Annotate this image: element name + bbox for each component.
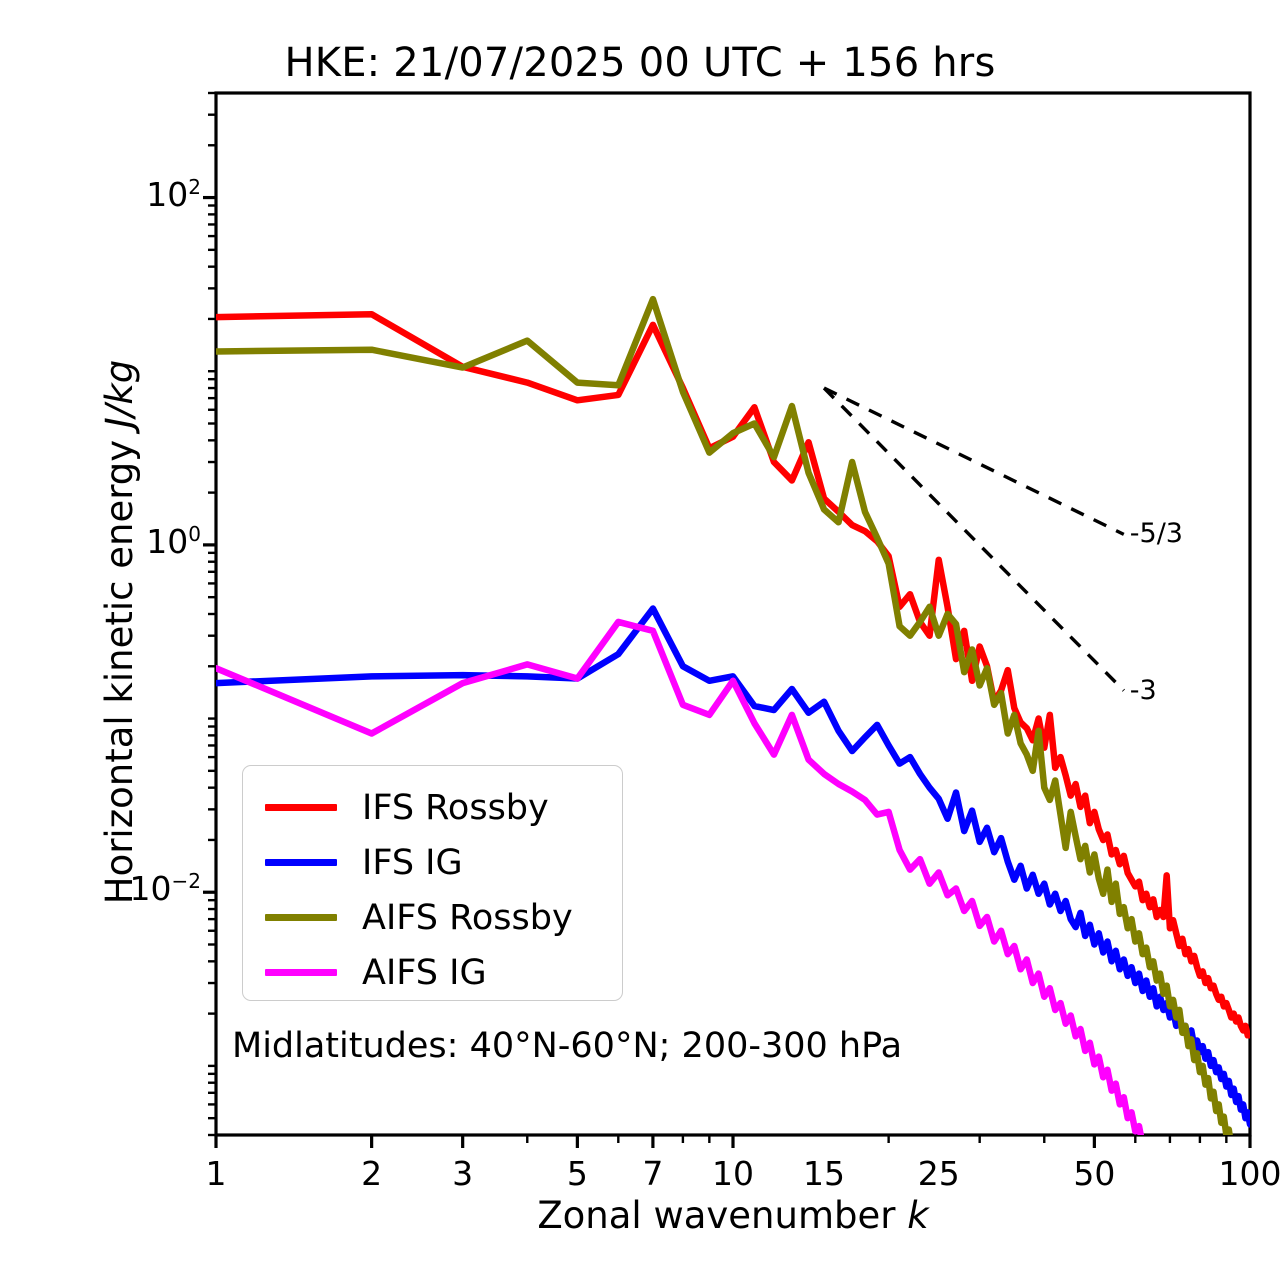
- region-annotation: Midlatitudes: 40°N-60°N; 200-300 hPa: [232, 1027, 902, 1065]
- x-tick-label-25: 25: [879, 1157, 999, 1190]
- x-tick-label-15: 15: [764, 1157, 884, 1190]
- legend-swatch-ifs-ig: [265, 859, 337, 866]
- legend-label-aifs-rossby: AIFS Rossby: [362, 900, 573, 936]
- chart-page: HKE: 21/07/2025 00 UTC + 156 hrs Horizon…: [0, 0, 1280, 1288]
- legend-swatch-ifs-rossby: [265, 804, 337, 811]
- y-tick-label-2: 10−2: [6, 872, 201, 905]
- legend: IFS Rossby IFS IG AIFS Rossby AIFS IG: [242, 765, 623, 1001]
- y-axis-label-unit: J/kg: [98, 360, 141, 428]
- y-axis-label-text: Horizontal kinetic energy: [98, 428, 141, 904]
- y-tick-label-0: 102: [6, 178, 201, 211]
- legend-label-ifs-ig: IFS IG: [362, 845, 463, 881]
- legend-label-ifs-rossby: IFS Rossby: [362, 790, 549, 826]
- legend-swatch-aifs-rossby: [265, 914, 337, 921]
- slope-label--3: -3: [1130, 677, 1157, 704]
- legend-item-aifs-rossby: AIFS Rossby: [243, 890, 622, 945]
- legend-item-ifs-rossby: IFS Rossby: [243, 780, 622, 835]
- slope-label--5-3: -5/3: [1130, 520, 1183, 547]
- legend-swatch-aifs-ig: [265, 969, 337, 976]
- x-tick-label-50: 50: [1034, 1157, 1154, 1190]
- x-tick-label-100: 100: [1190, 1157, 1280, 1190]
- x-axis-label-text: Zonal wavenumber: [537, 1194, 907, 1237]
- x-tick-label-1: 1: [156, 1157, 276, 1190]
- y-axis-label: Horizontal kinetic energy J/kg: [100, 112, 140, 1152]
- x-axis-label: Zonal wavenumber k: [216, 1196, 1250, 1236]
- legend-label-aifs-ig: AIFS IG: [362, 955, 487, 991]
- x-axis-label-symbol: k: [907, 1194, 928, 1237]
- legend-item-aifs-ig: AIFS IG: [243, 945, 622, 1000]
- legend-item-ifs-ig: IFS IG: [243, 835, 622, 890]
- x-tick-label-3: 3: [403, 1157, 523, 1190]
- y-tick-label-1: 100: [6, 525, 201, 558]
